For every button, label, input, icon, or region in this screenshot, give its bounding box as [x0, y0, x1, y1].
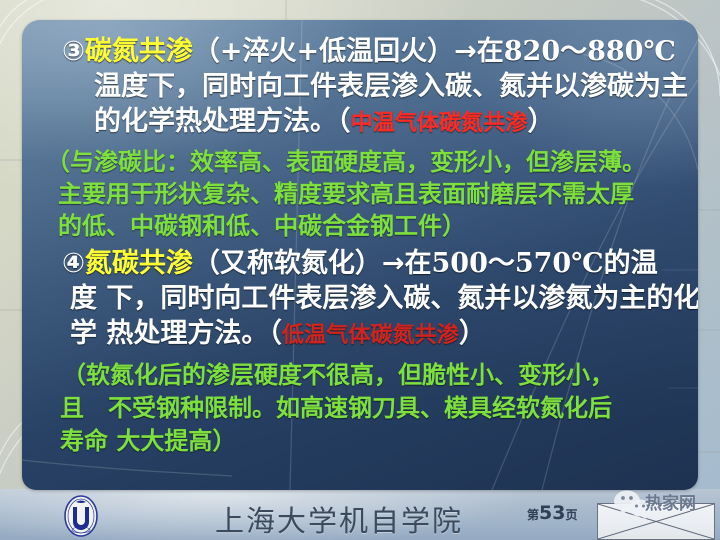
note1-line-3: 的低、中碳钢和低、中碳合金钢工件） — [36, 210, 688, 242]
item3-term: 碳氮共渗 — [85, 36, 193, 67]
slide-canvas: ③碳氮共渗（+淬火+低温回火）→在820～880℃ 温度下，同时向工件表层渗入碳… — [0, 0, 720, 540]
item3-line-2: 温度下，同时向工件表层渗入碳、氮并以渗碳为主 — [36, 69, 688, 104]
note2-line-1: （软氮化后的渗层硬度不很高，但脆性小、变形小， — [36, 359, 688, 392]
item4-marker: ④ — [62, 248, 85, 279]
shanghai-university-logo — [60, 494, 102, 538]
paragraph-item-4: ④氮碳共渗（又称软氮化）→在500～570℃的温 度 下，同时向工件表层渗入碳、… — [36, 246, 688, 353]
page-suffix: 页 — [565, 508, 577, 522]
item4-term: 氮碳共渗 — [85, 248, 193, 279]
item4-line-1: ④氮碳共渗（又称软氮化）→在500～570℃的温 — [36, 246, 688, 281]
paragraph-item-3: ③碳氮共渗（+淬火+低温回火）→在820～880℃ 温度下，同时向工件表层渗入碳… — [36, 34, 688, 141]
note2-line-3: 寿命 大大提高） — [36, 425, 688, 458]
item4-line3-end: ） — [459, 318, 486, 349]
item4-line-2: 度 下，同时向工件表层渗入碳、氮并以渗氮为主的化 — [36, 281, 688, 316]
watermark-text: 热家网 — [645, 489, 696, 514]
page-prefix: 第 — [527, 508, 539, 522]
note1-line-1: （与渗碳比：效率高、表面硬度高，变形小，但渗层薄。 — [36, 146, 688, 178]
item3-line3-end: ） — [528, 106, 555, 137]
page-number-value: 53 — [539, 502, 565, 524]
item3-temperature-range: 820～880℃ — [504, 36, 676, 67]
item4-line1-rest: （又称软氮化）→在 — [193, 248, 432, 279]
item3-marker: ③ — [62, 36, 85, 67]
note2-line-2: 且 不受钢种限制。如高速钢刀具、模具经软氮化后 — [36, 392, 688, 425]
school-name: 上海大学机自学院 — [215, 498, 463, 540]
item3-line3-main: 的化学热处理方法。（ — [94, 106, 351, 137]
note-2: （软氮化后的渗层硬度不很高，但脆性小、变形小， 且 不受钢种限制。如高速钢刀具、… — [36, 359, 688, 458]
item4-line-3: 学 热处理方法。（低温气体碳氮共渗） — [36, 316, 688, 353]
item4-temperature-range: 500～570℃ — [432, 248, 604, 279]
page-number: 第53页 — [527, 502, 577, 524]
item4-line1-tail: 的温 — [604, 248, 658, 279]
item3-red-term: 中温气体碳氮共渗 — [351, 110, 528, 136]
content-panel: ③碳氮共渗（+淬火+低温回火）→在820～880℃ 温度下，同时向工件表层渗入碳… — [22, 20, 698, 490]
slide-text-content: ③碳氮共渗（+淬火+低温回火）→在820～880℃ 温度下，同时向工件表层渗入碳… — [22, 20, 698, 490]
item4-line3-main: 学 热处理方法。（ — [70, 318, 282, 349]
item3-line-1: ③碳氮共渗（+淬火+低温回火）→在820～880℃ — [36, 34, 688, 69]
item3-line-3: 的化学热处理方法。（中温气体碳氮共渗） — [36, 104, 688, 141]
note1-line-2: 主要用于形状复杂、精度要求高且表面耐磨层不需太厚 — [36, 178, 688, 210]
item4-red-term: 低温气体碳氮共渗 — [282, 322, 459, 348]
item3-line1-rest: （+淬火+低温回火）→在 — [193, 36, 504, 67]
note-1: （与渗碳比：效率高、表面硬度高，变形小，但渗层薄。 主要用于形状复杂、精度要求高… — [36, 146, 688, 242]
